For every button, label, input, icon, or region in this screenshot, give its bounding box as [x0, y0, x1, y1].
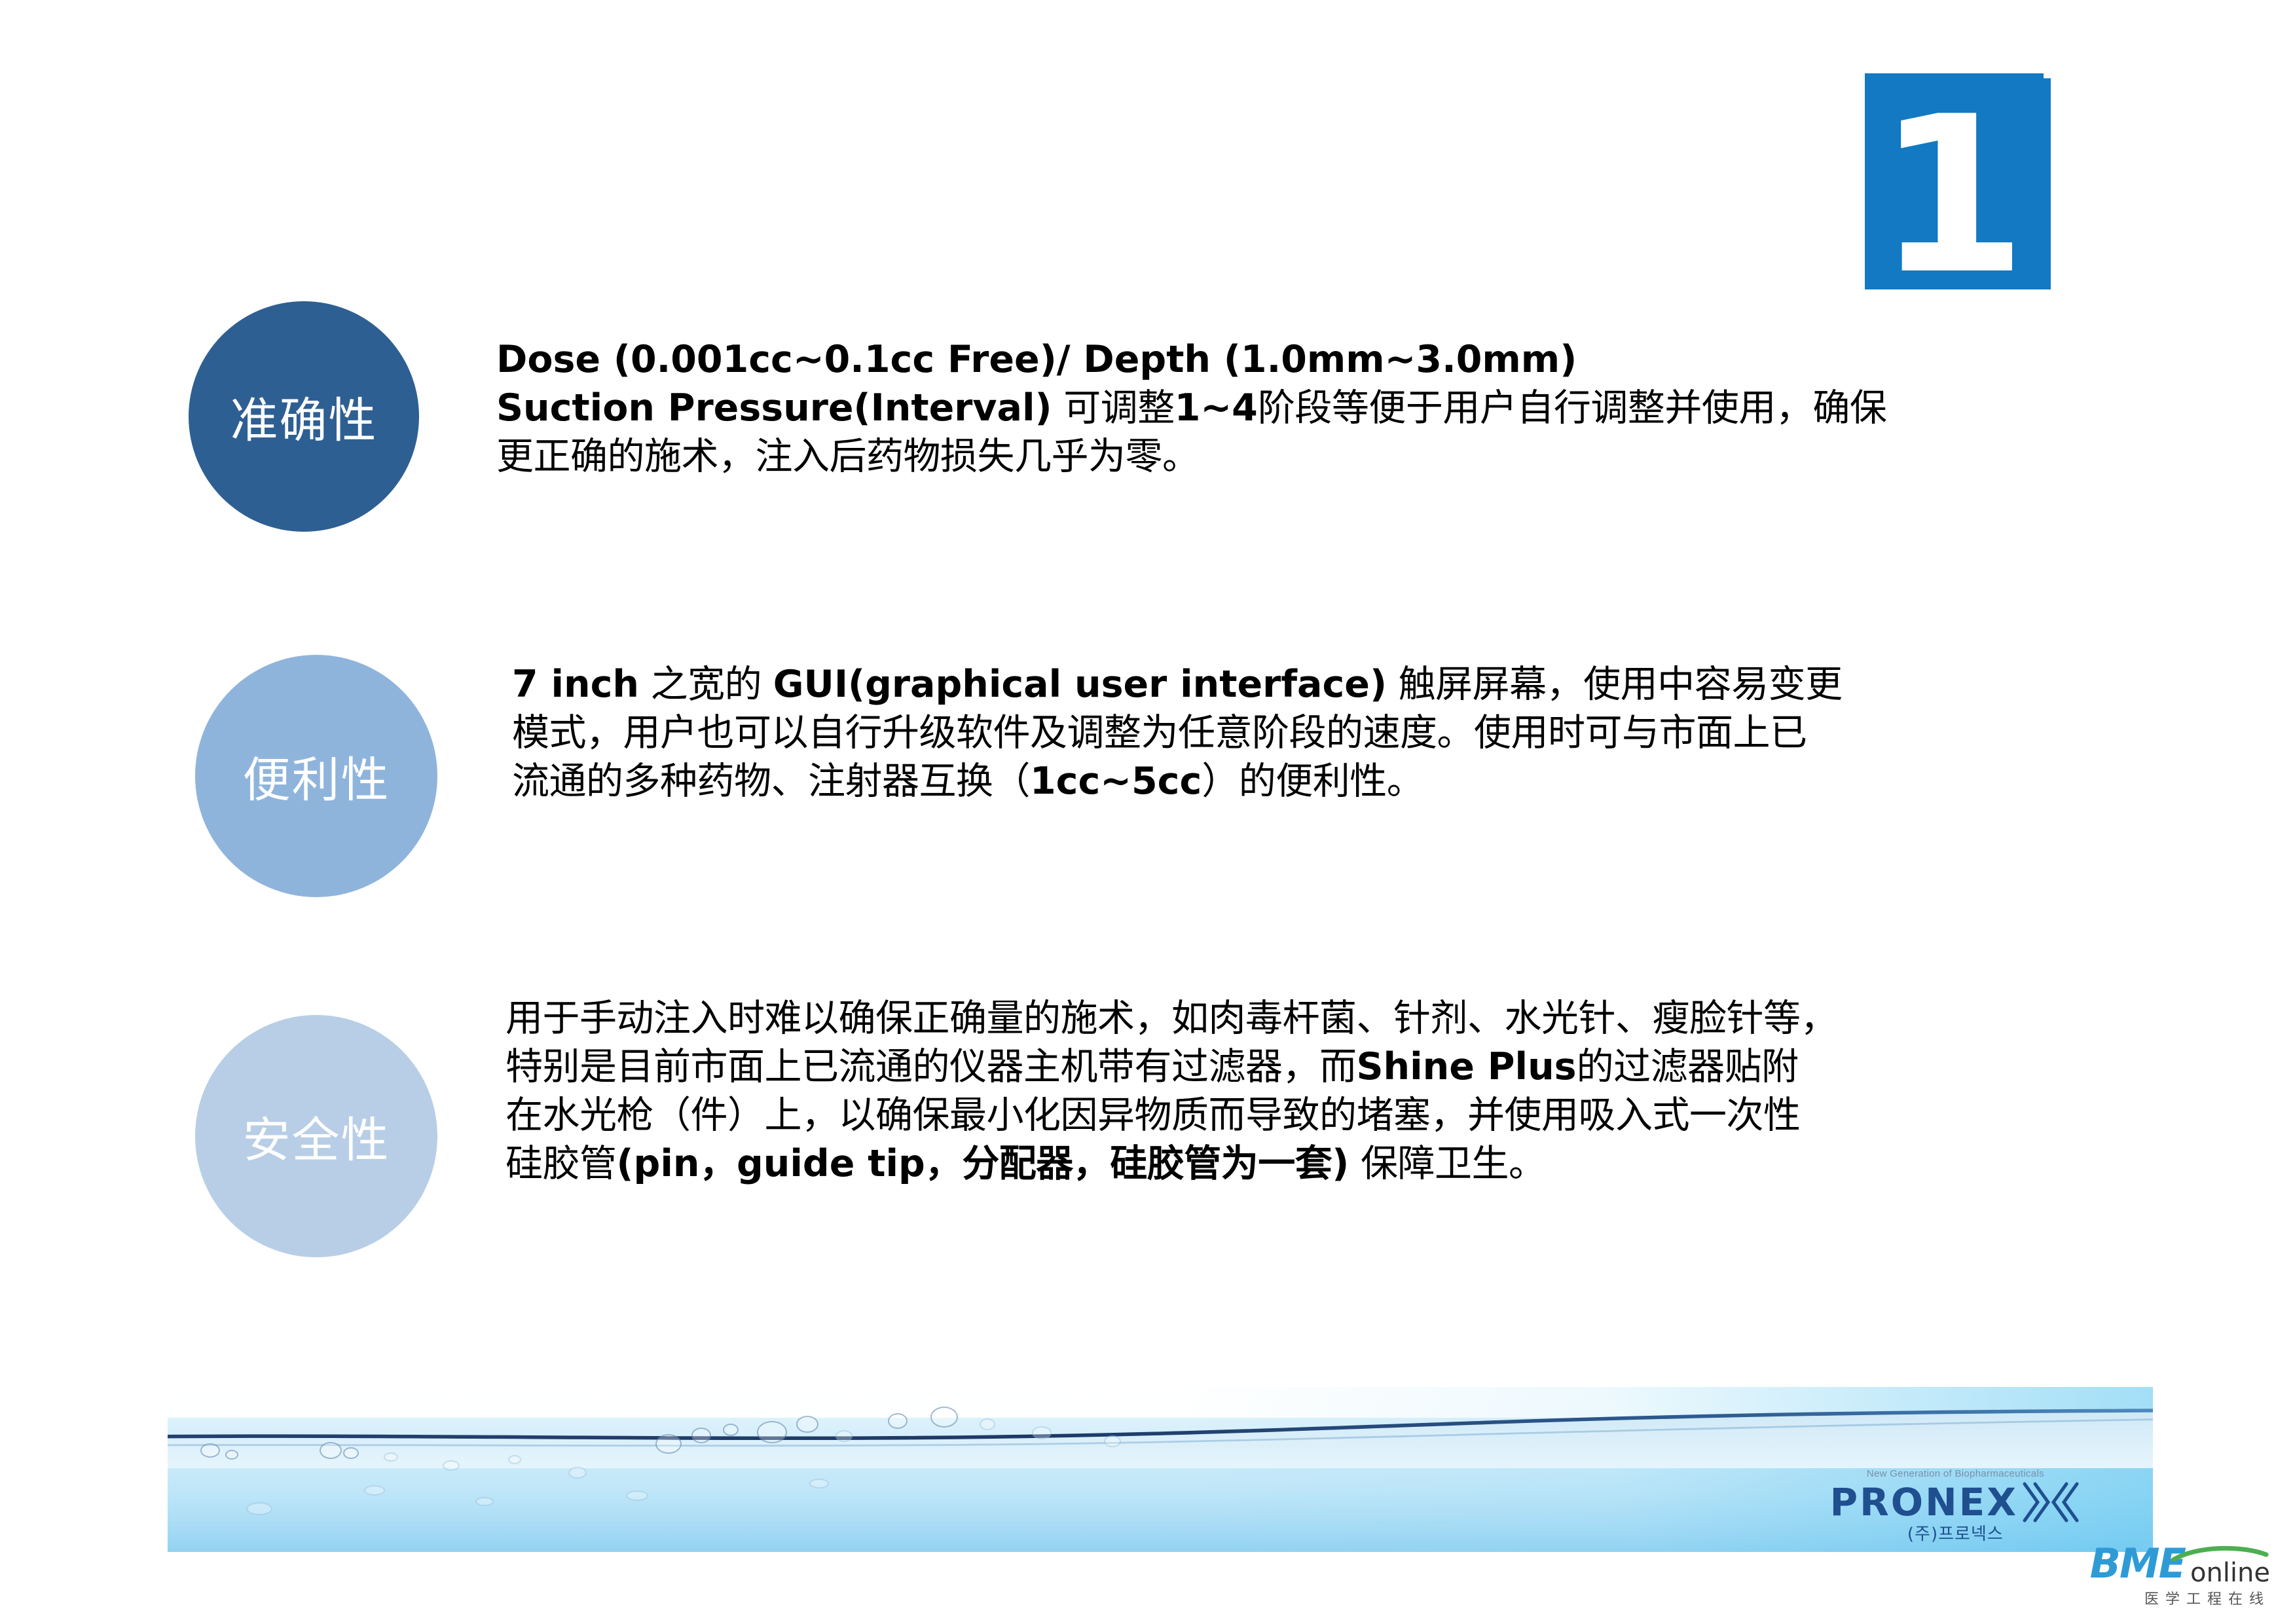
feature-circle-label: 安全性: [243, 1101, 390, 1171]
bubble: [757, 1421, 787, 1443]
bubble: [930, 1407, 958, 1428]
feature-circle-safety: 安全性: [195, 1015, 437, 1257]
bubble: [796, 1416, 818, 1433]
slide-canvas: 1 PART 准确性 Dose (0.001cc~0.1cc Free)/ De…: [0, 0, 2295, 1624]
bubble: [475, 1497, 494, 1506]
bubble: [691, 1428, 711, 1443]
part-badge: 1 PART: [1865, 73, 2051, 289]
bubble: [888, 1413, 908, 1429]
text-line: 7 inch 之宽的 GUI(graphical user interface)…: [512, 660, 1843, 709]
text-run: 阶段等便于用户自行调整并使用，确保: [1258, 386, 1887, 430]
text-run: ）的便利性。: [1202, 760, 1423, 803]
part-word-label: PART: [2036, 0, 2077, 89]
feature-circle-label: 便利性: [243, 741, 390, 811]
bubble: [200, 1443, 220, 1458]
text-run: 硅胶管: [505, 1142, 617, 1185]
text-run: Dose (0.001cc~0.1cc Free)/ Depth (1.0mm~…: [496, 338, 1577, 381]
bubble: [246, 1502, 272, 1515]
text-run: 之宽的: [639, 663, 773, 706]
feature-circle-accuracy: 准确性: [189, 301, 419, 532]
feature-text-accuracy: Dose (0.001cc~0.1cc Free)/ Depth (1.0mm~…: [496, 335, 1886, 481]
text-line: 特别是目前市面上已流通的仪器主机带有过滤器，而Shine Plus的过滤器贴附: [505, 1043, 1837, 1091]
text-run: 更正确的施术，注入后药物损失几乎为零。: [496, 435, 1200, 478]
text-run: 模式，用户也可以自行升级软件及调整为任意阶段的速度。使用时可与市面上已: [512, 711, 1807, 754]
bubble: [343, 1447, 359, 1459]
text-line: 用于手动注入时难以确保正确量的施术，如肉毒杆菌、针剂、水光针、瘦脸针等，: [505, 994, 1837, 1043]
text-run: 在水光枪（件）上，以确保最小化因异物质而导致的堵塞，并使用吸入式一次性: [505, 1094, 1801, 1137]
text-line: 硅胶管(pin，guide tip，分配器，硅胶管为一套) 保障卫生。: [505, 1139, 1837, 1188]
bubble: [1104, 1435, 1121, 1447]
feature-text-convenience: 7 inch 之宽的 GUI(graphical user interface)…: [512, 660, 1843, 805]
banner-wave-surface: [168, 1408, 2153, 1468]
pronex-logo: New Generation of Biopharmaceuticals PRO…: [1830, 1469, 2081, 1543]
bme-online-label: online: [2190, 1560, 2270, 1586]
text-line: 在水光枪（件）上，以确保最小化因异物质而导致的堵塞，并使用吸入式一次性: [505, 1091, 1837, 1139]
feature-circle-label: 准确性: [230, 382, 378, 451]
bubble: [225, 1450, 238, 1460]
water-banner-image: New Generation of Biopharmaceuticals PRO…: [168, 1387, 2153, 1552]
pronex-korean-name: (주)프로넥스: [1830, 1526, 2081, 1543]
bubble: [443, 1460, 460, 1471]
text-line: 模式，用户也可以自行升级软件及调整为任意阶段的速度。使用时可与市面上已: [512, 709, 1843, 757]
bme-subtitle: 医学工程在线: [2008, 1587, 2270, 1608]
text-line: Dose (0.001cc~0.1cc Free)/ Depth (1.0mm~…: [496, 335, 1886, 384]
pronex-wordmark: PRONEX: [1830, 1483, 2018, 1521]
text-run: 触屏屏幕，使用中容易变更: [1387, 663, 1843, 706]
text-run: 流通的多种药物、注射器互换（: [512, 760, 1030, 803]
bubble: [723, 1424, 739, 1436]
text-run: 特别是目前市面上已流通的仪器主机带有过滤器，而: [505, 1045, 1357, 1088]
text-run: 保障卫生。: [1349, 1142, 1545, 1185]
bme-online-watermark: BME online 医学工程在线: [2008, 1545, 2270, 1608]
bubble: [835, 1430, 853, 1442]
bubble: [364, 1485, 385, 1496]
bubble: [980, 1418, 995, 1430]
bubble: [1032, 1426, 1052, 1439]
text-run: GUI(graphical user interface): [773, 663, 1387, 706]
bubble: [568, 1467, 587, 1479]
text-run: 7 inch: [512, 663, 639, 706]
pronex-chevron-icon: [2021, 1481, 2081, 1523]
text-run: 的过滤器贴附: [1577, 1045, 1799, 1088]
bubble: [384, 1452, 398, 1462]
text-run: ，: [699, 1142, 737, 1185]
pronex-wordmark-row: PRONEX: [1830, 1481, 2081, 1523]
bubble: [508, 1455, 521, 1464]
text-run: 1~4: [1175, 386, 1258, 430]
feature-circle-convenience: 便利性: [195, 655, 437, 897]
text-run: Suction Pressure(Interval): [496, 386, 1052, 430]
bme-logo-row: BME online: [2008, 1545, 2270, 1583]
feature-text-safety: 用于手动注入时难以确保正确量的施术，如肉毒杆菌、针剂、水光针、瘦脸针等， 特别是…: [505, 994, 1837, 1188]
text-run: guide tip: [737, 1142, 925, 1185]
text-run: 可调整: [1052, 386, 1175, 430]
bubble: [809, 1479, 829, 1488]
text-run: ): [1332, 1142, 1349, 1185]
bubble: [320, 1442, 342, 1459]
text-line: 流通的多种药物、注射器互换（1cc~5cc）的便利性。: [512, 757, 1843, 805]
text-line: 更正确的施术，注入后药物损失几乎为零。: [496, 432, 1886, 481]
text-run: 1cc~5cc: [1030, 760, 1202, 803]
pronex-tagline: New Generation of Biopharmaceuticals: [1830, 1469, 2081, 1479]
text-run: ，分配器，硅胶管为一套: [925, 1142, 1332, 1185]
bubble: [626, 1490, 648, 1501]
part-number: 1: [1877, 88, 2023, 304]
bubble: [655, 1434, 682, 1454]
text-run: (pin: [617, 1142, 700, 1185]
text-line: Suction Pressure(Interval) 可调整1~4阶段等便于用户…: [496, 384, 1886, 432]
text-run: 用于手动注入时难以确保正确量的施术，如肉毒杆菌、针剂、水光针、瘦脸针等，: [505, 997, 1837, 1040]
text-run: Shine Plus: [1357, 1045, 1577, 1088]
